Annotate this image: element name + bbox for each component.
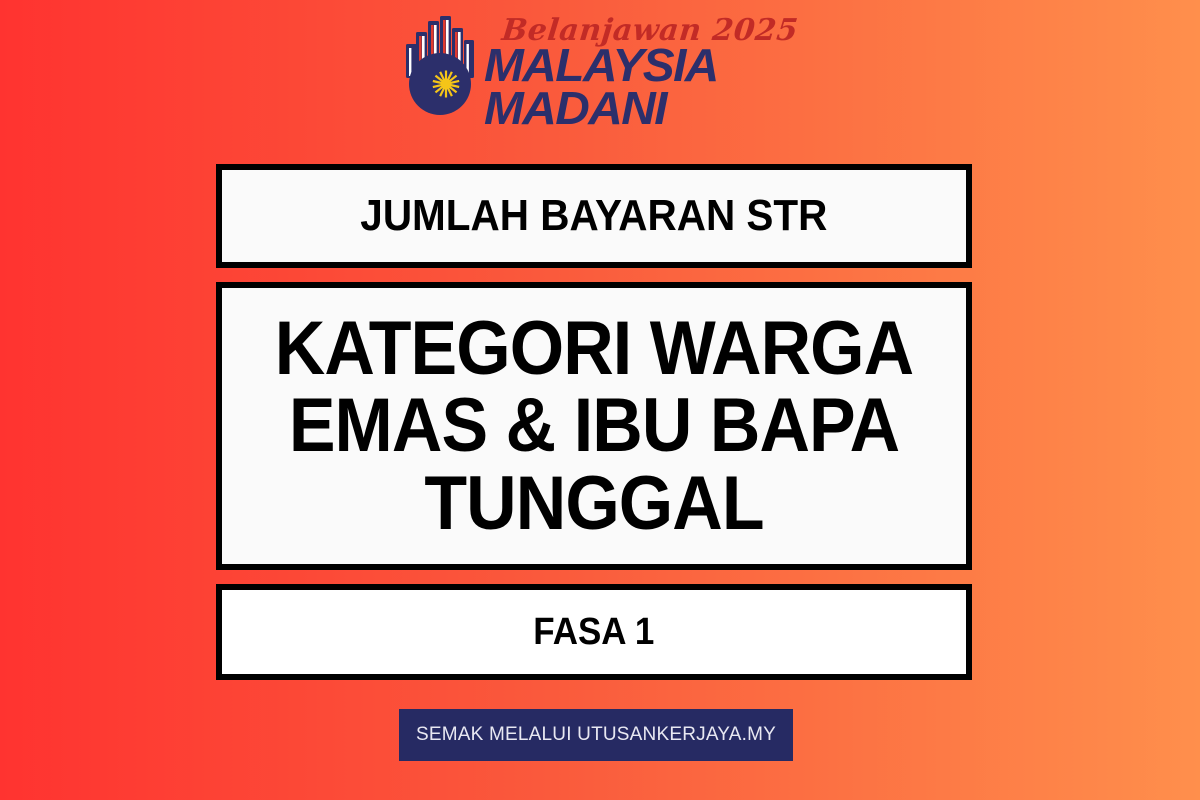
logo-line-malaysia: MALAYSIA	[484, 44, 718, 87]
phase-text: FASA 1	[533, 613, 654, 652]
check-eligibility-banner[interactable]: SEMAK MELALUI UTUSANKERJAYA.MY	[399, 709, 793, 761]
check-eligibility-label: SEMAK MELALUI UTUSANKERJAYA.MY	[416, 724, 776, 746]
payment-title-text: JUMLAH BAYARAN STR	[360, 194, 827, 239]
category-text: KATEGORI WARGA EMAS & IBU BAPA TUNGGAL	[252, 310, 936, 543]
logo-line-madani: MADANI	[484, 87, 666, 130]
logo-lockup: Belanjawan 2025 MALAYSIA MADANI	[402, 14, 798, 130]
logo-wordmark: Belanjawan 2025 MALAYSIA MADANI	[484, 14, 798, 130]
logo-header: Belanjawan 2025 MALAYSIA MADANI	[0, 14, 1200, 142]
panel-payment-title: JUMLAH BAYARAN STR	[216, 164, 972, 268]
malaysia-madani-emblem-icon	[402, 14, 478, 118]
panel-phase: FASA 1	[216, 584, 972, 680]
panel-category: KATEGORI WARGA EMAS & IBU BAPA TUNGGAL	[216, 282, 972, 570]
